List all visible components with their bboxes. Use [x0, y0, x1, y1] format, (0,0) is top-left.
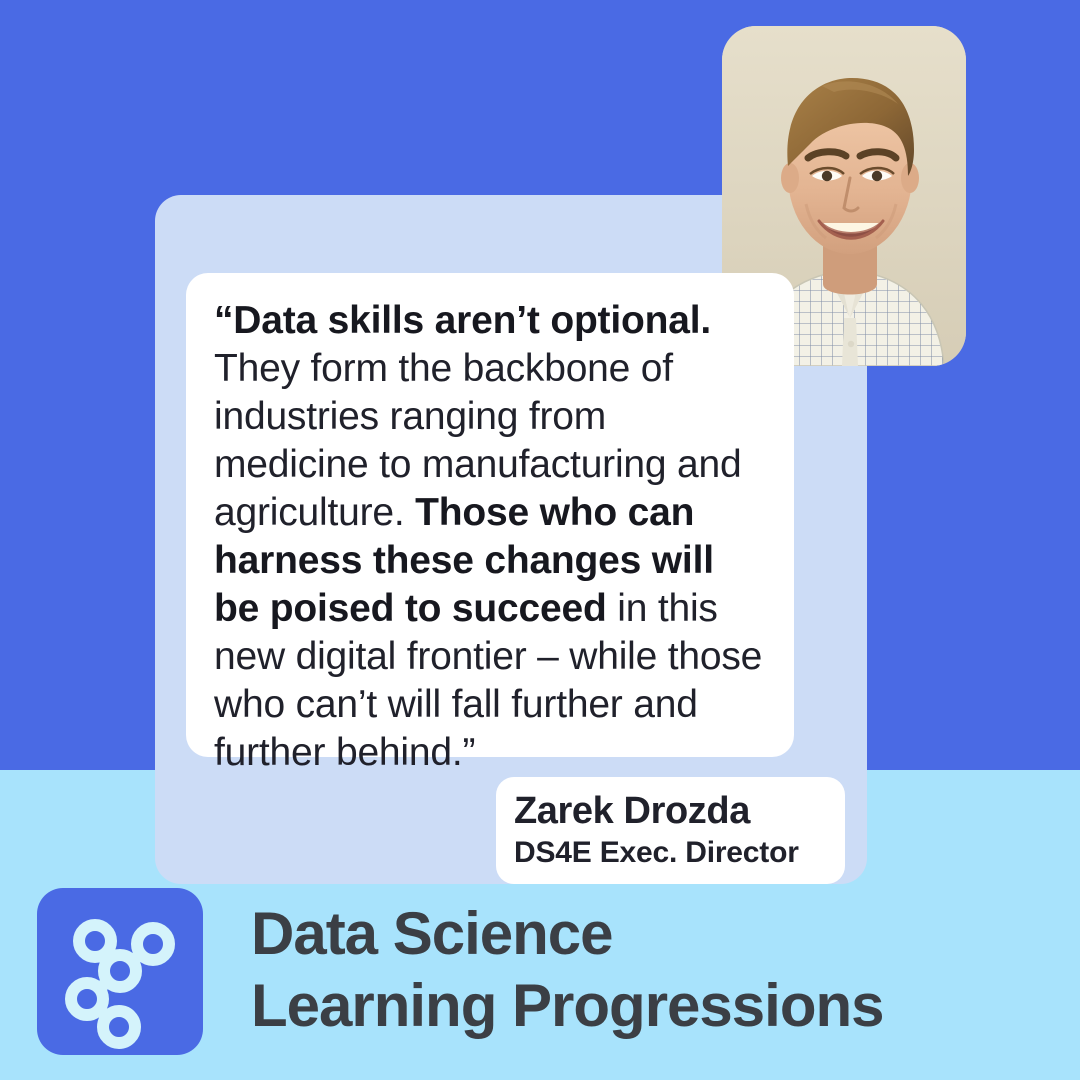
brand-title: Data Science Learning Progressions — [251, 898, 1061, 1042]
brand-title-line-1: Data Science — [251, 898, 1061, 970]
quote-poster: “Data skills aren’t optional. They form … — [0, 0, 1080, 1080]
quote-text: “Data skills aren’t optional. They form … — [214, 297, 766, 777]
brand-logo — [37, 888, 203, 1055]
quote-card: “Data skills aren’t optional. They form … — [186, 273, 794, 757]
speaker-role: DS4E Exec. Director — [514, 834, 827, 872]
quote-segment-bold-1: “Data skills aren’t optional. — [214, 299, 711, 342]
speaker-name: Zarek Drozda — [514, 788, 827, 834]
attribution-card: Zarek Drozda DS4E Exec. Director — [496, 777, 845, 884]
brand-title-line-2: Learning Progressions — [251, 970, 1061, 1042]
